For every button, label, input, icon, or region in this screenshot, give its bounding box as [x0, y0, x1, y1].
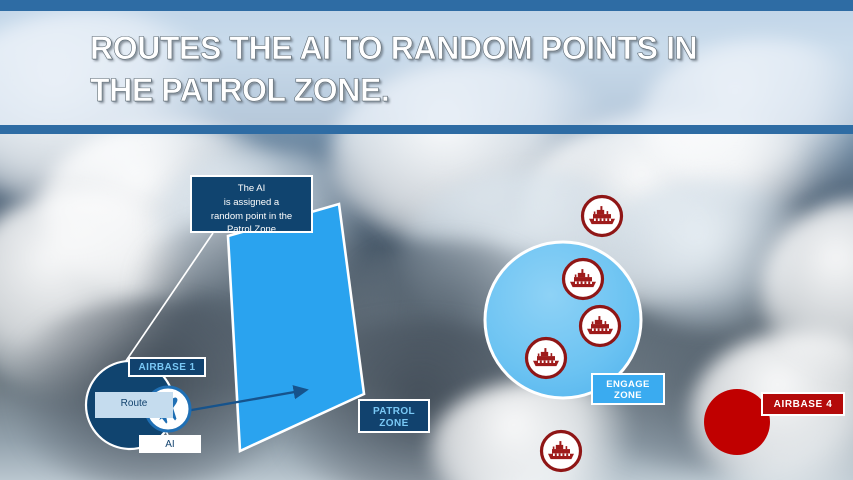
- ai-label[interactable]: AI: [139, 435, 201, 453]
- airbase4-label[interactable]: AIRBASE 4: [761, 392, 845, 416]
- warship-icon[interactable]: [581, 307, 620, 346]
- engage-zone-label[interactable]: ENGAGE ZONE: [591, 373, 665, 405]
- route-label[interactable]: Route: [95, 392, 173, 418]
- patrol-zone-callout: The AI is assigned a random point in the…: [190, 175, 313, 233]
- warship-icon[interactable]: [527, 339, 566, 378]
- slide-canvas: ROUTES THE AI TO RANDOM POINTS IN THE PA…: [0, 0, 853, 480]
- warship-icon[interactable]: [564, 260, 603, 299]
- patrol-zone-label[interactable]: PATROL ZONE: [358, 399, 430, 433]
- airbase1-label[interactable]: AIRBASE 1: [128, 357, 206, 377]
- warship-icon[interactable]: [583, 197, 622, 236]
- patrol-zone-shape[interactable]: [228, 204, 364, 451]
- warship-icon[interactable]: [542, 432, 581, 471]
